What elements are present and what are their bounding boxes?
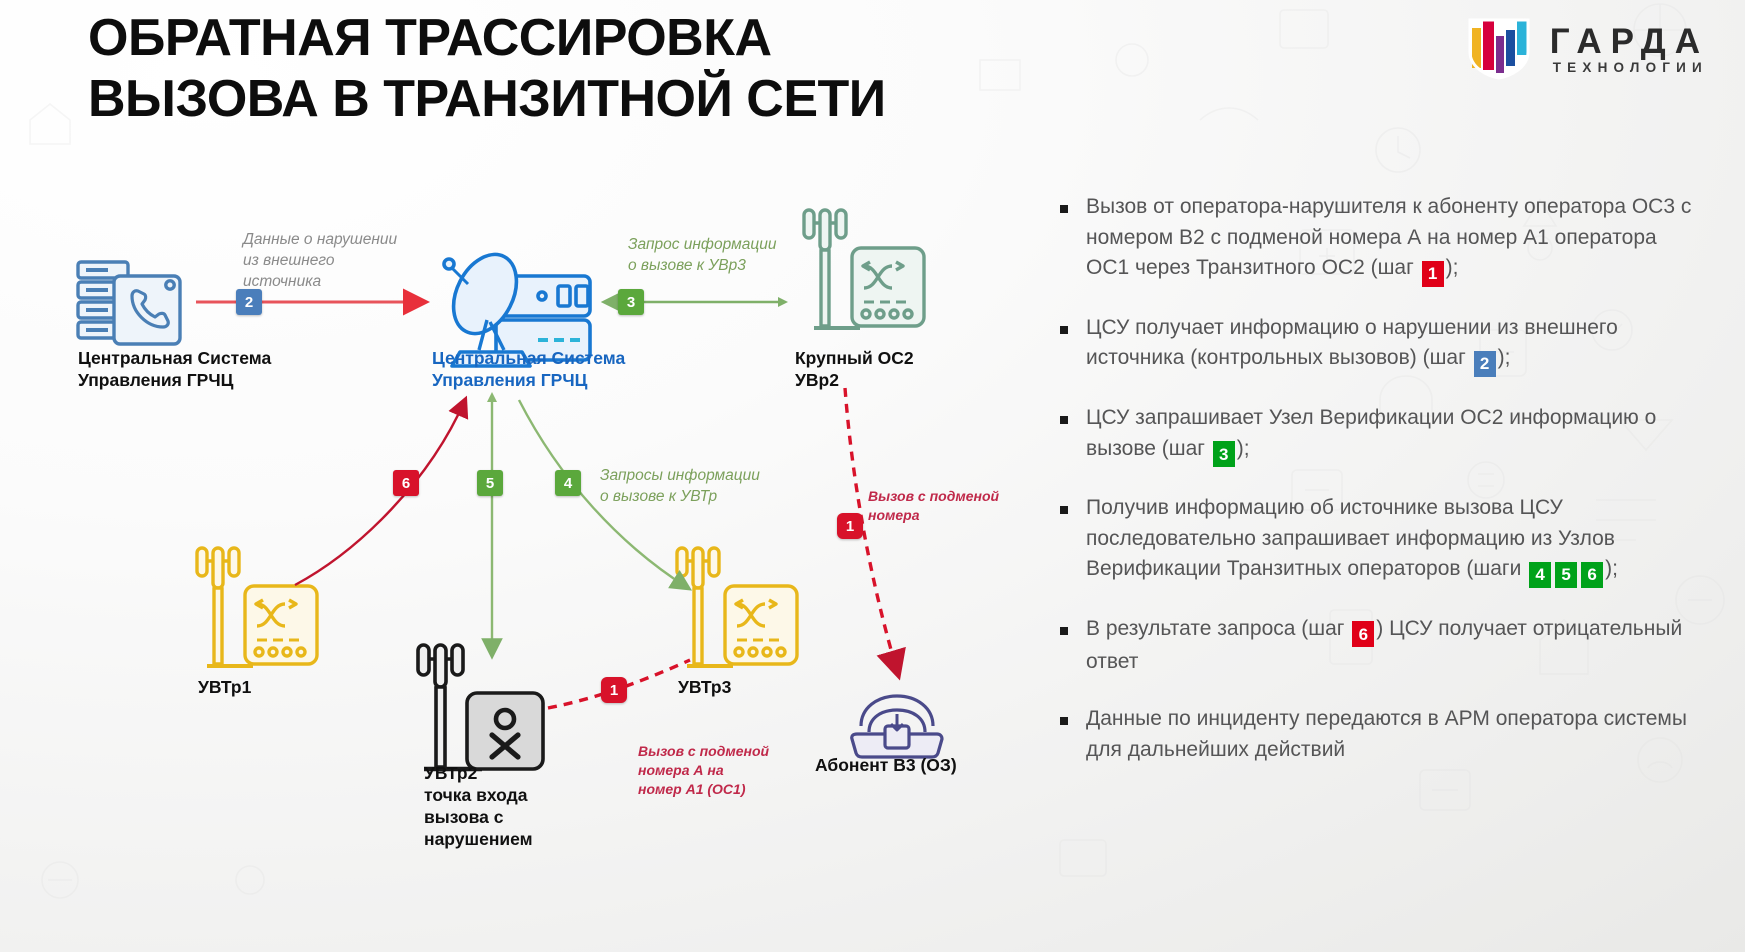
step-badge-3[interactable]: 3: [618, 289, 644, 315]
node-label-uvtr3: УВТр3: [678, 677, 838, 699]
bullet-marker-icon: [1060, 506, 1068, 514]
inline-step-badge: 1: [1422, 261, 1444, 287]
logo-bars-icon: [1466, 18, 1532, 80]
step-badge-1-entry[interactable]: 1: [601, 677, 627, 703]
bullet-marker-icon: [1060, 205, 1068, 213]
inline-step-badge: 6: [1581, 562, 1603, 588]
inline-step-badge: 5: [1555, 562, 1577, 588]
server-phone-icon: [78, 262, 180, 344]
node-label-left-csu: Центральная Система Управления ГРЧЦ: [78, 348, 308, 392]
node-label-uvtr1: УВТр1: [198, 677, 358, 699]
inline-step-badge: 6: [1352, 621, 1374, 647]
annotation-external-data: Данные о нарушении из внешнего источника: [243, 230, 423, 293]
bullet-text: ЦСУ получает информацию о нарушении из в…: [1086, 313, 1700, 377]
step-badge-2[interactable]: 2: [236, 289, 262, 315]
arrow-step-6: [295, 400, 465, 585]
bullet-item: ЦСУ запрашивает Узел Верификации ОС2 инф…: [1060, 403, 1700, 467]
bullet-item: Вызов от оператора-нарушителя к абоненту…: [1060, 192, 1700, 287]
page-title-line2: ВЫЗОВА В ТРАНЗИТНОЙ СЕТИ: [88, 69, 1068, 130]
step-badge-6[interactable]: 6: [393, 470, 419, 496]
page-title: ОБРАТНАЯ ТРАССИРОВКА ВЫЗОВА В ТРАНЗИТНОЙ…: [88, 8, 1068, 131]
annotation-spoofed-call: Вызов с подменой номера: [868, 487, 1028, 525]
tower-switch-icon-uvtr1: [197, 548, 317, 666]
bullet-marker-icon: [1060, 717, 1068, 725]
step-badge-4[interactable]: 4: [555, 470, 581, 496]
page-title-line1: ОБРАТНАЯ ТРАССИРОВКА: [88, 8, 1068, 69]
steps-description-list: Вызов от оператора-нарушителя к абоненту…: [1060, 192, 1700, 791]
node-label-csu: Центральная Система Управления ГРЧЦ: [432, 348, 662, 392]
logo-text: ГАРДА ТЕХНОЛОГИИ: [1550, 24, 1709, 75]
inline-step-badge: 3: [1213, 441, 1235, 467]
annotation-requests-uvtr: Запросы информации о вызове к УВТр: [600, 466, 800, 508]
annotation-spoofed-call-2: Вызов с подменой номера А на номер А1 (О…: [638, 742, 808, 799]
inline-step-badge: 2: [1474, 351, 1496, 377]
node-label-subscriber: Абонент В3 (ОЗ): [815, 755, 1035, 777]
node-label-uvtr2: УВТр2 точка входа вызова с нарушением: [424, 763, 604, 851]
network-diagram: 2 3 4 5 6 1 1 Данные о нарушении из внеш…: [0, 150, 1040, 950]
bullet-marker-icon: [1060, 627, 1068, 635]
brand-logo: ГАРДА ТЕХНОЛОГИИ: [1466, 18, 1709, 80]
bullet-marker-icon: [1060, 416, 1068, 424]
tower-switch-icon-uvtr3: [677, 548, 797, 666]
bullet-item: Данные по инциденту передаются в АРМ опе…: [1060, 704, 1700, 765]
bullet-text: ЦСУ запрашивает Узел Верификации ОС2 инф…: [1086, 403, 1700, 467]
desk-phone-icon: [852, 696, 942, 757]
bullet-text: Вызов от оператора-нарушителя к абоненту…: [1086, 192, 1700, 287]
bullet-text: В результате запроса (шаг 6) ЦСУ получае…: [1086, 614, 1700, 678]
bullet-item: ЦСУ получает информацию о нарушении из в…: [1060, 313, 1700, 377]
bullet-item: В результате запроса (шаг 6) ЦСУ получае…: [1060, 614, 1700, 678]
step-badge-5[interactable]: 5: [477, 470, 503, 496]
annotation-request-uvr3: Запрос информации о вызове к УВр3: [628, 235, 828, 277]
step-badge-1-call[interactable]: 1: [837, 513, 863, 539]
logo-subtitle: ТЕХНОЛОГИИ: [1550, 61, 1709, 75]
bullet-text: Данные по инциденту передаются в АРМ опе…: [1086, 704, 1700, 765]
tower-user-icon-uvtr2: [418, 645, 543, 769]
inline-step-badge: 4: [1529, 562, 1551, 588]
bullet-text: Получив информацию об источнике вызова Ц…: [1086, 493, 1700, 588]
bullet-marker-icon: [1060, 326, 1068, 334]
bullet-item: Получив информацию об источнике вызова Ц…: [1060, 493, 1700, 588]
slide-root: ОБРАТНАЯ ТРАССИРОВКА ВЫЗОВА В ТРАНЗИТНОЙ…: [0, 0, 1745, 952]
logo-name: ГАРДА: [1550, 24, 1709, 59]
node-label-os2: Крупный ОС2 УВр2: [795, 348, 995, 392]
